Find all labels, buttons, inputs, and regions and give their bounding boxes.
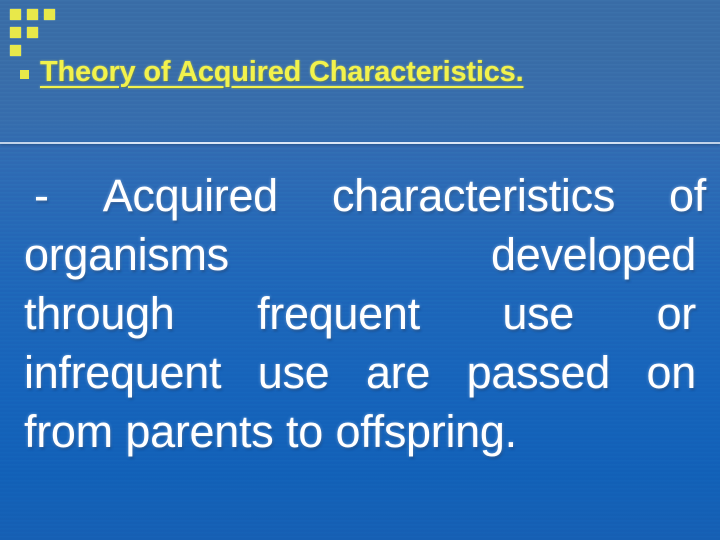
body-word: to [286, 402, 323, 461]
body-word: use [502, 284, 574, 343]
body-word: passed [467, 343, 610, 402]
body-word: of [669, 166, 706, 225]
square-bullet-icon [20, 70, 29, 79]
slide-body-text: - Acquired characteristics of organisms … [24, 166, 696, 461]
body-word: characteristics [332, 166, 615, 225]
body-line-3: through frequent use or [24, 284, 696, 343]
body-word: on [647, 343, 696, 402]
body-word: use [258, 343, 330, 402]
body-word: Acquired [103, 166, 278, 225]
body-word: infrequent [24, 343, 221, 402]
body-line-1: - Acquired characteristics of [24, 166, 706, 225]
slide-title: Theory of Acquired Characteristics. [40, 56, 523, 89]
slide-title-row: Theory of Acquired Characteristics. [20, 56, 706, 89]
body-line-2: organisms developed [24, 225, 696, 284]
body-line-5: from parents to offspring. [24, 402, 696, 461]
presentation-slide: Theory of Acquired Characteristics. - Ac… [0, 0, 720, 540]
body-word: from [24, 402, 113, 461]
body-word: organisms [24, 225, 229, 284]
body-word: frequent [257, 284, 420, 343]
square-grid-motif-decoration [10, 9, 60, 61]
deco-square-r0c1 [27, 9, 38, 20]
deco-square-r1c0 [10, 27, 21, 38]
deco-square-r1c1 [27, 27, 38, 38]
body-word: - [34, 166, 49, 225]
body-word: are [366, 343, 430, 402]
horizontal-divider [0, 142, 720, 144]
body-word: developed [491, 225, 696, 284]
body-line-4: infrequent use are passed on [24, 343, 696, 402]
deco-square-r0c0 [10, 9, 21, 20]
deco-square-r2c0 [10, 45, 21, 56]
body-word: parents [125, 402, 273, 461]
body-word: offspring. [336, 402, 517, 461]
body-word: or [657, 284, 696, 343]
body-word: through [24, 284, 175, 343]
deco-square-r0c2 [44, 9, 55, 20]
